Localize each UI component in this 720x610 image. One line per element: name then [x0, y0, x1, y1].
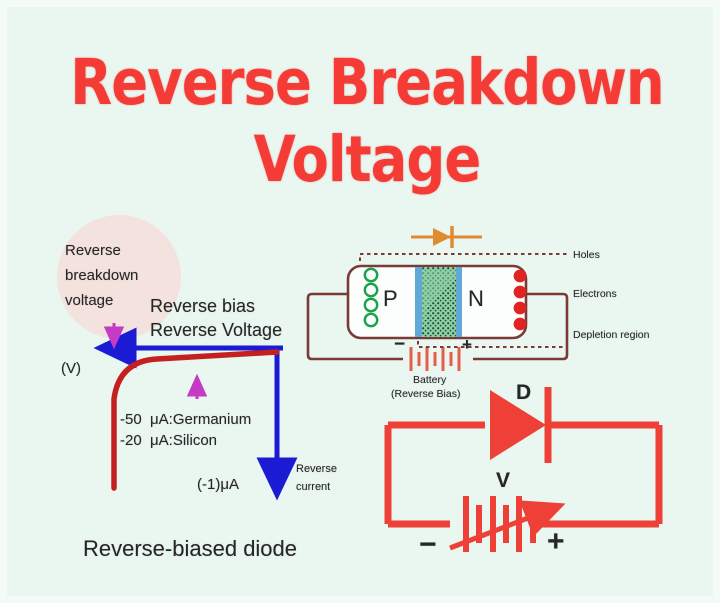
graph-caption: Reverse-biased diode — [83, 536, 297, 562]
source-label: V — [496, 469, 510, 493]
illustration-canvas: Reverse Breakdown Voltage Reverse breakd… — [0, 0, 720, 603]
legend-electrons: Electrons — [573, 288, 617, 300]
legend-holes: Holes — [573, 249, 600, 261]
reverse-bias-label: Reverse bias — [150, 296, 255, 317]
current-marker-label: (-1)μA — [197, 476, 239, 493]
circuit-minus-sign: − — [419, 528, 437, 562]
callout-line-2: breakdown — [65, 267, 138, 284]
germanium-current-label: -50 μA:Germanium — [120, 411, 251, 428]
reverse-current-line-2: current — [296, 481, 330, 493]
diagram-artwork — [7, 7, 720, 610]
battery-label-line-1: Battery — [413, 374, 446, 386]
pn-junction-block — [348, 266, 526, 338]
battery-minus-sign: − — [394, 334, 405, 356]
silicon-current-label: -20 μA:Silicon — [120, 432, 217, 449]
reverse-current-line-1: Reverse — [296, 463, 337, 475]
callout-line-3: voltage — [65, 292, 113, 309]
diode-symbol-small — [411, 226, 482, 248]
battery-label-line-2: (Reverse Bias) — [391, 388, 460, 400]
battery-plus-sign: + — [462, 335, 472, 355]
p-region-label: P — [383, 286, 398, 312]
reverse-voltage-label: Reverse Voltage — [150, 320, 282, 341]
diode-label: D — [516, 381, 531, 405]
n-region-label: N — [468, 286, 484, 312]
legend-depletion-region: Depletion region — [573, 329, 649, 341]
callout-line-1: Reverse — [65, 242, 121, 259]
voltage-axis-label: (V) — [61, 360, 81, 377]
circuit-plus-sign: + — [547, 525, 565, 559]
battery-symbol-junction — [411, 347, 459, 371]
